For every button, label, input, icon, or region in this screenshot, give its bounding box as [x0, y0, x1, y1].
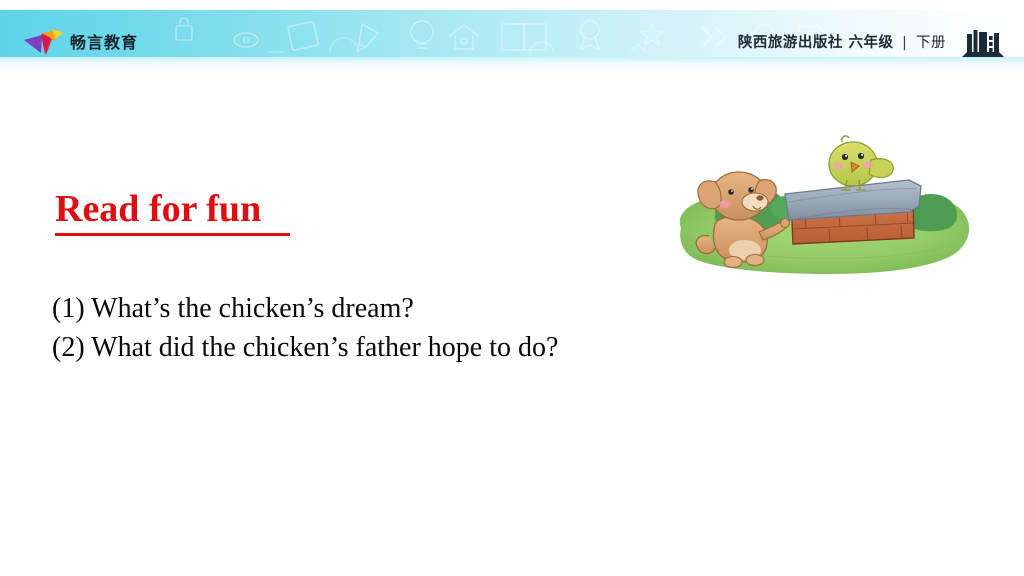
dog-and-chick-on-wall-illustration [663, 132, 983, 280]
question-item-1: (1) What’s the chicken’s dream? [52, 289, 752, 328]
chick [829, 136, 893, 190]
header-fade-shadow [0, 57, 1024, 71]
grade-label: 六年级 [848, 35, 893, 51]
separator: | [899, 35, 910, 51]
ribbon-icon [581, 21, 599, 49]
mouse-icon [234, 33, 258, 47]
pencil-icon [357, 24, 378, 51]
chevron-icon [702, 28, 726, 46]
bird-logo-icon [22, 27, 64, 57]
bulb-icon [411, 21, 433, 48]
lock-icon [176, 18, 192, 40]
volume-label: 下册 [916, 35, 946, 51]
book-icon [502, 24, 546, 50]
square-icon [288, 22, 318, 51]
star-icon [641, 24, 663, 44]
home-icon [450, 25, 478, 49]
arc-icon [268, 38, 646, 54]
publisher-info: 陕西旅游出版社 六年级 | 下册 [738, 33, 946, 53]
brand-name: 畅言教育 [70, 33, 138, 53]
books-icon [960, 26, 1006, 57]
heading-underline [55, 233, 290, 236]
app-header: 畅言教育 陕西旅游出版社 六年级 | 下册 [0, 10, 1024, 57]
read-for-fun-heading-block: Read for fun [55, 188, 290, 236]
page-title: Read for fun [55, 188, 290, 230]
question-item-2: (2) What did the chicken’s father hope t… [52, 328, 752, 367]
question-list: (1) What’s the chicken’s dream? (2) What… [52, 289, 752, 367]
publisher-name: 陕西旅游出版社 [738, 35, 843, 51]
